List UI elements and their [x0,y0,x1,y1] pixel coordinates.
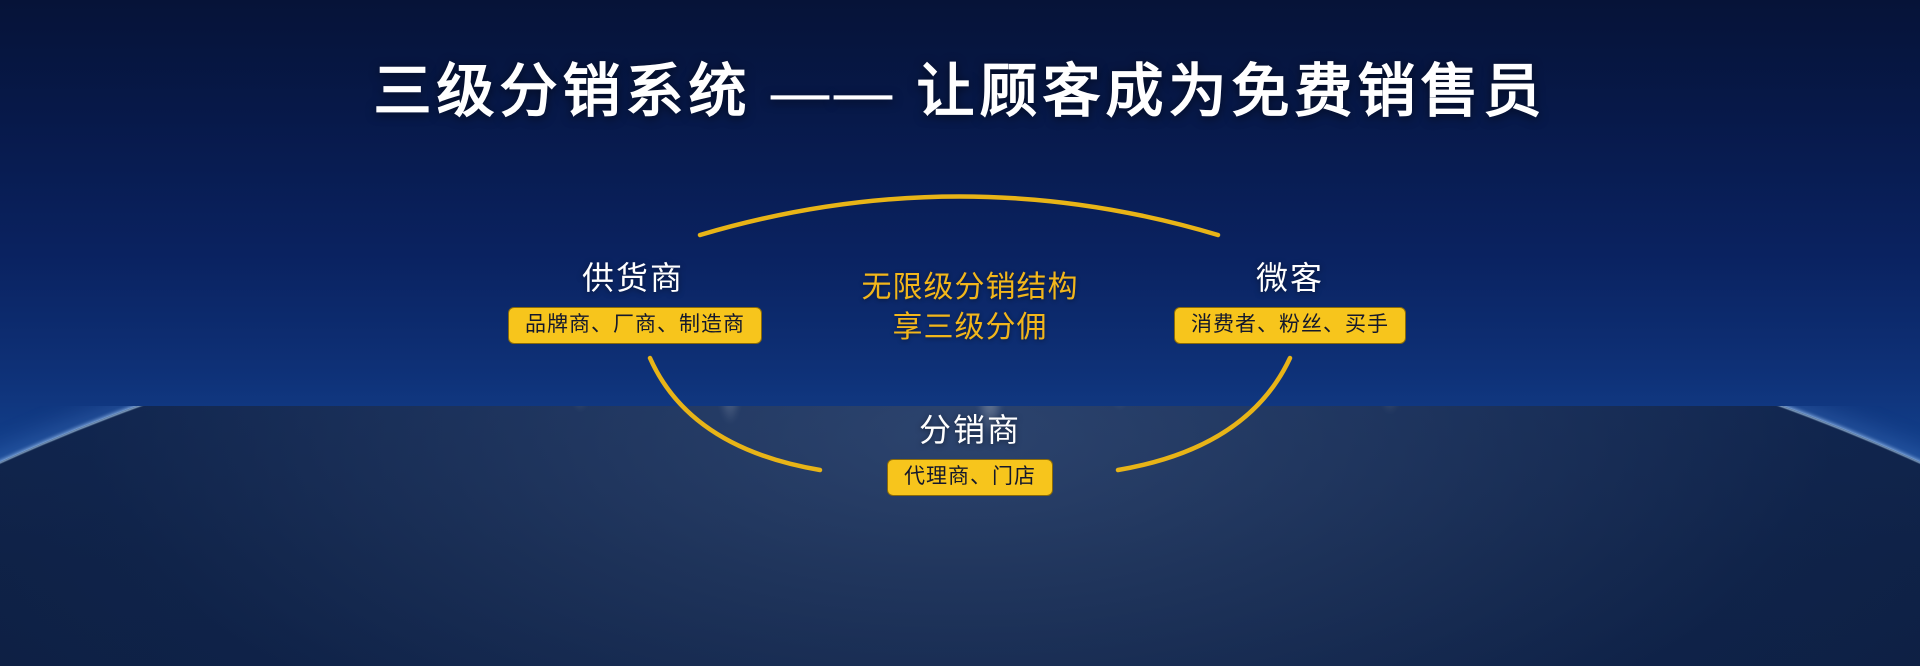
node-consumer-label: 微客 [1170,258,1410,298]
center-caption: 无限级分销结构 享三级分佣 [840,268,1100,348]
node-dealer[interactable]: 分销商 代理商、门店 [860,410,1080,496]
node-consumer-badge: 消费者、粉丝、买手 [1174,307,1406,344]
arc-dealer-to-consumer-icon [1118,358,1290,470]
node-supplier[interactable]: 供货商 品牌商、厂商、制造商 [508,258,758,344]
arc-supplier-to-dealer-icon [650,358,820,470]
node-consumer[interactable]: 微客 消费者、粉丝、买手 [1170,258,1410,344]
page-title: 三级分销系统 —— 让顾客成为免费销售员 [0,44,1920,128]
node-supplier-label: 供货商 [508,258,758,298]
center-caption-line-1: 无限级分销结构 [840,268,1100,308]
node-dealer-badge: 代理商、门店 [887,459,1053,496]
node-supplier-badge: 品牌商、厂商、制造商 [508,307,762,344]
promo-banner: 三级分销系统 —— 让顾客成为免费销售员 无限级分销结构 享三级分佣 供货商 品… [0,0,1920,666]
node-dealer-label: 分销商 [860,410,1080,450]
center-caption-line-2: 享三级分佣 [840,308,1100,348]
arc-supplier-to-consumer-icon [700,197,1218,236]
